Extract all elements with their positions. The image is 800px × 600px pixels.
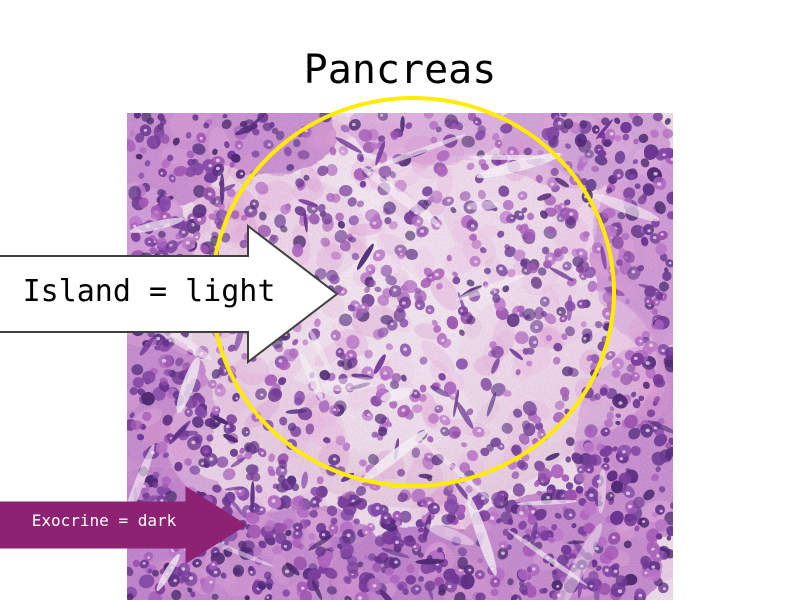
page-title: Pancreas: [0, 46, 800, 94]
histology-svg: [127, 113, 673, 600]
exocrine-arrow-label: Exocrine = dark: [10, 511, 198, 531]
island-arrow-label: Island = light: [8, 274, 290, 310]
slide-canvas: Pancreas: [0, 0, 800, 600]
pancreas-histology-image: [127, 113, 673, 600]
